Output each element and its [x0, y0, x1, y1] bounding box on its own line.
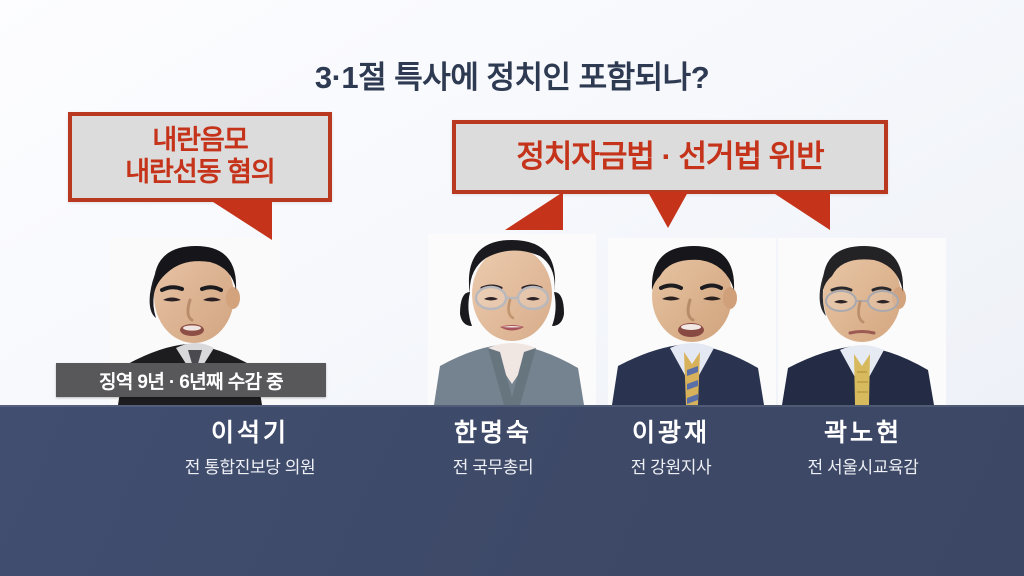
person-name-3: 이광재: [562, 420, 780, 448]
person-name-4: 곽노현: [752, 420, 974, 448]
callout-left-tail: [210, 200, 272, 240]
panel-top-divider: [0, 405, 1024, 407]
callout-right-tail-1: [505, 192, 563, 230]
person-role-4: 전 서울시교육감: [752, 453, 974, 478]
infographic-root: 3·1절 특사에 정치인 포함되나?: [0, 0, 1024, 576]
sentence-caption: 징역 9년 · 6년째 수감 중: [56, 363, 326, 397]
portrait-person-3: [608, 238, 776, 405]
callout-left-line-1: 내란음모: [152, 125, 247, 157]
bottom-panel: 이석기 전 통합진보당 의원 한명숙 전 국무총리 이광재 전 강원지사 곽노현…: [0, 405, 1024, 576]
callout-charge-right: 정치자금법 · 선거법 위반: [452, 120, 888, 194]
person-name-1: 이석기: [120, 420, 380, 448]
person-role-1: 전 통합진보당 의원: [120, 453, 380, 478]
callout-right-tail-2: [648, 192, 688, 228]
person-label-1: 이석기 전 통합진보당 의원: [120, 420, 380, 478]
page-title: 3·1절 특사에 정치인 포함되나?: [0, 52, 1024, 97]
callout-charge-left: 내란음모 내란선동 혐의: [68, 112, 332, 202]
person-label-3: 이광재 전 강원지사: [562, 420, 780, 478]
person-label-4: 곽노현 전 서울시교육감: [752, 420, 974, 478]
callout-right-line-1: 정치자금법 · 선거법 위반: [516, 139, 823, 176]
callout-right-tail-3: [772, 192, 830, 230]
callout-left-line-2: 내란선동 혐의: [125, 157, 275, 189]
person-role-3: 전 강원지사: [562, 453, 780, 478]
upper-background: 3·1절 특사에 정치인 포함되나?: [0, 0, 1024, 405]
portrait-person-2: [428, 234, 596, 405]
portrait-person-4: [778, 238, 946, 405]
